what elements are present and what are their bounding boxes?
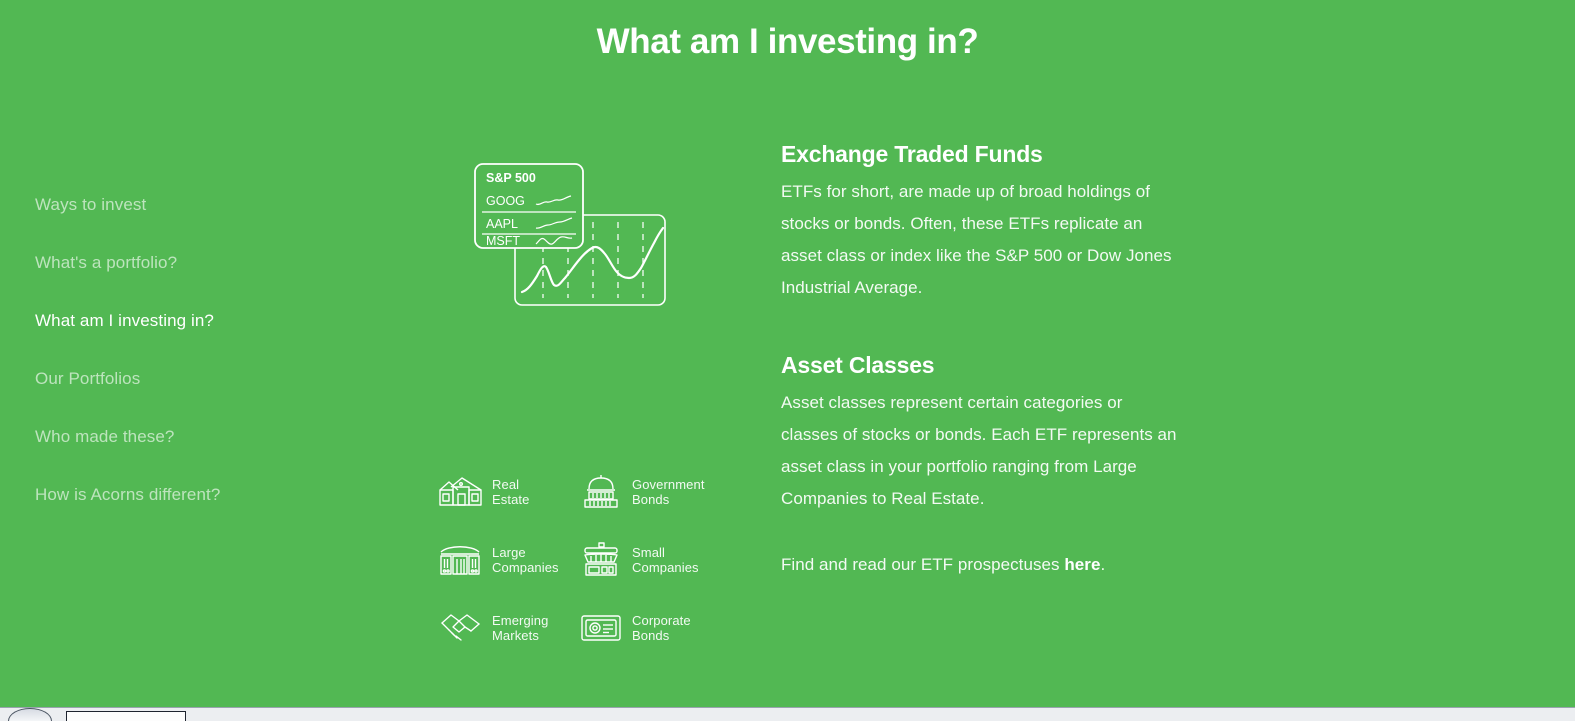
house-icon <box>438 473 484 511</box>
asset-class-label: Small Companies <box>632 545 699 575</box>
sidebar-item-how-is-acorns-different[interactable]: How is Acorns different? <box>35 480 365 538</box>
ticker-row-symbol-goog: GOOG <box>486 194 525 208</box>
asset-class-label: Emerging Markets <box>492 613 548 643</box>
asset-class-emerging-markets: Emerging Markets <box>438 594 559 662</box>
asset-class-label: Real Estate <box>492 477 529 507</box>
section-title: Asset Classes <box>781 349 1181 381</box>
asset-class-real-estate: Real Estate <box>438 458 559 526</box>
prospectus-prefix: Find and read our ETF prospectuses <box>781 555 1064 574</box>
storefront-icon <box>578 541 624 579</box>
prospectus-link[interactable]: here <box>1064 555 1100 574</box>
ticker-card-header: S&P 500 <box>486 171 536 185</box>
section-title: Exchange Traded Funds <box>781 138 1181 170</box>
stock-ticker-chart-illustration: S&P 500 GOOG AAPL MSFT <box>440 150 740 330</box>
prospectus-suffix: . <box>1100 555 1105 574</box>
asset-class-government-bonds: Government Bonds <box>578 458 705 526</box>
asset-class-corporate-bonds: Corporate Bonds <box>578 594 705 662</box>
taskbar-window-button[interactable] <box>66 711 186 721</box>
sidebar-item-what-am-i-investing-in[interactable]: What am I investing in? <box>35 306 365 364</box>
asset-class-column-left: Real Estate <box>438 458 559 662</box>
sidebar-item-our-portfolios[interactable]: Our Portfolios <box>35 364 365 422</box>
asset-class-column-right: Government Bonds <box>578 458 705 662</box>
section-body: ETFs for short, are made up of broad hol… <box>781 176 1181 304</box>
sidebar-item-whats-a-portfolio[interactable]: What's a portfolio? <box>35 248 365 306</box>
handshake-icon <box>438 609 484 647</box>
asset-class-label: Corporate Bonds <box>632 613 691 643</box>
ticker-row-symbol-aapl: AAPL <box>486 217 518 231</box>
investing-info-page: What am I investing in? Ways to invest W… <box>0 0 1575 721</box>
capitol-dome-icon <box>578 473 624 511</box>
taskbar-start-orb[interactable] <box>8 708 52 721</box>
content-column: Exchange Traded Funds ETFs for short, ar… <box>781 138 1181 581</box>
section-exchange-traded-funds: Exchange Traded Funds ETFs for short, ar… <box>781 138 1181 304</box>
sidebar-item-who-made-these[interactable]: Who made these? <box>35 422 365 480</box>
section-body: Asset classes represent certain categori… <box>781 387 1181 515</box>
bond-certificate-icon <box>578 609 624 647</box>
page-title: What am I investing in? <box>0 20 1575 64</box>
asset-class-label: Large Companies <box>492 545 559 575</box>
browser-chrome-strip <box>0 707 1575 721</box>
prospectus-line: Find and read our ETF prospectuses here. <box>781 549 1181 581</box>
asset-class-large-companies: Large Companies <box>438 526 559 594</box>
asset-class-small-companies: Small Companies <box>578 526 705 594</box>
asset-class-label: Government Bonds <box>632 477 705 507</box>
bank-building-icon <box>438 541 484 579</box>
sidebar-item-ways-to-invest[interactable]: Ways to invest <box>35 190 365 248</box>
ticker-card: S&P 500 GOOG AAPL MSFT <box>475 164 583 248</box>
section-asset-classes: Asset Classes Asset classes represent ce… <box>781 349 1181 515</box>
sidebar-nav: Ways to invest What's a portfolio? What … <box>35 190 365 538</box>
ticker-row-symbol-msft: MSFT <box>486 234 520 248</box>
